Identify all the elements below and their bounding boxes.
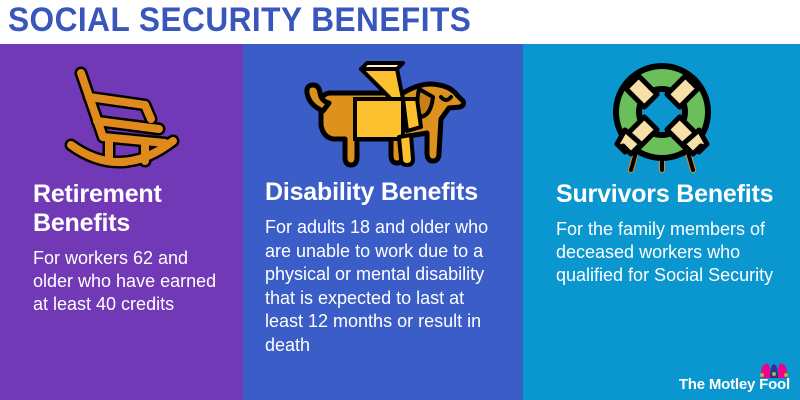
service-dog-icon xyxy=(299,55,467,179)
panel-survivors-text: Survivors Benefits For the family member… xyxy=(556,180,784,287)
life-preserver-icon-wrap xyxy=(523,50,800,180)
motley-fool-logo[interactable]: The Motley Fool xyxy=(679,377,790,392)
page-title: SOCIAL SECURITY BENEFITS xyxy=(8,1,471,39)
header-bar: SOCIAL SECURITY BENEFITS xyxy=(0,0,800,44)
motley-fool-logo-text: The Motley Fool xyxy=(679,377,790,392)
panel-retirement-body: For workers 62 and older who have earned… xyxy=(33,247,225,316)
panel-disability-heading: Disability Benefits xyxy=(265,178,507,207)
rocking-chair-icon-wrap xyxy=(0,52,243,182)
benefit-panels: Retirement Benefits For workers 62 and o… xyxy=(0,44,800,400)
panel-retirement-text: Retirement Benefits For workers 62 and o… xyxy=(33,180,225,316)
panel-disability-text: Disability Benefits For adults 18 and ol… xyxy=(265,178,507,357)
panel-disability-body: For adults 18 and older who are unable t… xyxy=(265,216,507,357)
rocking-chair-icon xyxy=(59,59,185,175)
jester-hat-icon xyxy=(759,361,789,378)
service-dog-icon-wrap xyxy=(243,52,523,182)
infographic-root: SOCIAL SECURITY BENEFITS xyxy=(0,0,800,400)
life-preserver-icon xyxy=(603,54,721,176)
panel-disability[interactable]: Disability Benefits For adults 18 and ol… xyxy=(243,44,523,400)
panel-survivors-body: For the family members of deceased worke… xyxy=(556,218,784,287)
panel-survivors[interactable]: Survivors Benefits For the family member… xyxy=(523,44,800,400)
panel-retirement-heading: Retirement Benefits xyxy=(33,180,225,238)
panel-retirement[interactable]: Retirement Benefits For workers 62 and o… xyxy=(0,44,243,400)
panel-survivors-heading: Survivors Benefits xyxy=(556,180,784,209)
